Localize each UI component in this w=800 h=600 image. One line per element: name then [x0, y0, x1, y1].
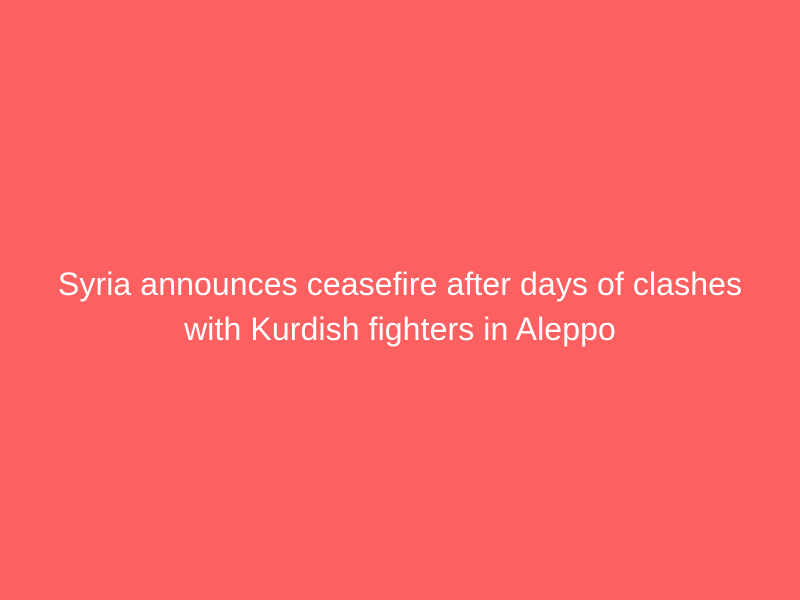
headline-line-2: with Kurdish fighters in Aleppo [22, 307, 778, 352]
headline-line-1: Syria announces ceasefire after days of … [22, 262, 778, 307]
news-headline-card: Syria announces ceasefire after days of … [0, 0, 800, 600]
headline-container: Syria announces ceasefire after days of … [0, 0, 800, 600]
page-title: Syria announces ceasefire after days of … [22, 262, 778, 352]
